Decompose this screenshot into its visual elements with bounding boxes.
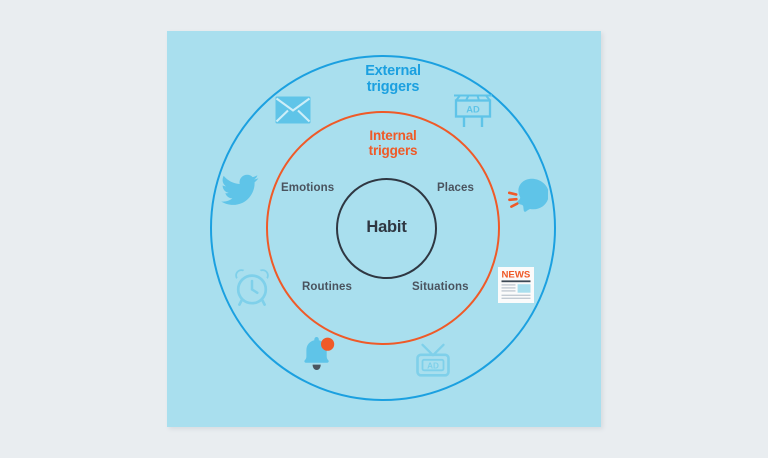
internal-label-situations: Situations	[412, 281, 469, 293]
billboard-ad-text: AD	[466, 103, 480, 114]
newspaper-icon: NEWS	[497, 266, 535, 304]
alarm-clock-icon	[234, 268, 270, 306]
email-icon	[275, 96, 311, 124]
newspaper-news-text: NEWS	[502, 270, 531, 281]
internal-label-emotions: Emotions	[281, 182, 334, 194]
external-triggers-title: External triggers	[333, 63, 453, 96]
tv-ad-icon: AD	[415, 343, 451, 377]
internal-triggers-title: Internal triggers	[333, 128, 453, 159]
habit-core-label: Habit	[336, 218, 437, 237]
billboard-icon: AD	[452, 93, 494, 129]
twitter-icon	[221, 174, 259, 206]
speaking-head-icon	[508, 178, 548, 216]
notification-bell-icon	[299, 337, 335, 371]
tv-ad-text: AD	[427, 361, 439, 370]
internal-label-routines: Routines	[302, 281, 352, 293]
diagram-stage: External triggers Internal triggers Emot…	[0, 0, 768, 458]
internal-label-places: Places	[437, 182, 474, 194]
diagram-panel: External triggers Internal triggers Emot…	[167, 31, 601, 427]
